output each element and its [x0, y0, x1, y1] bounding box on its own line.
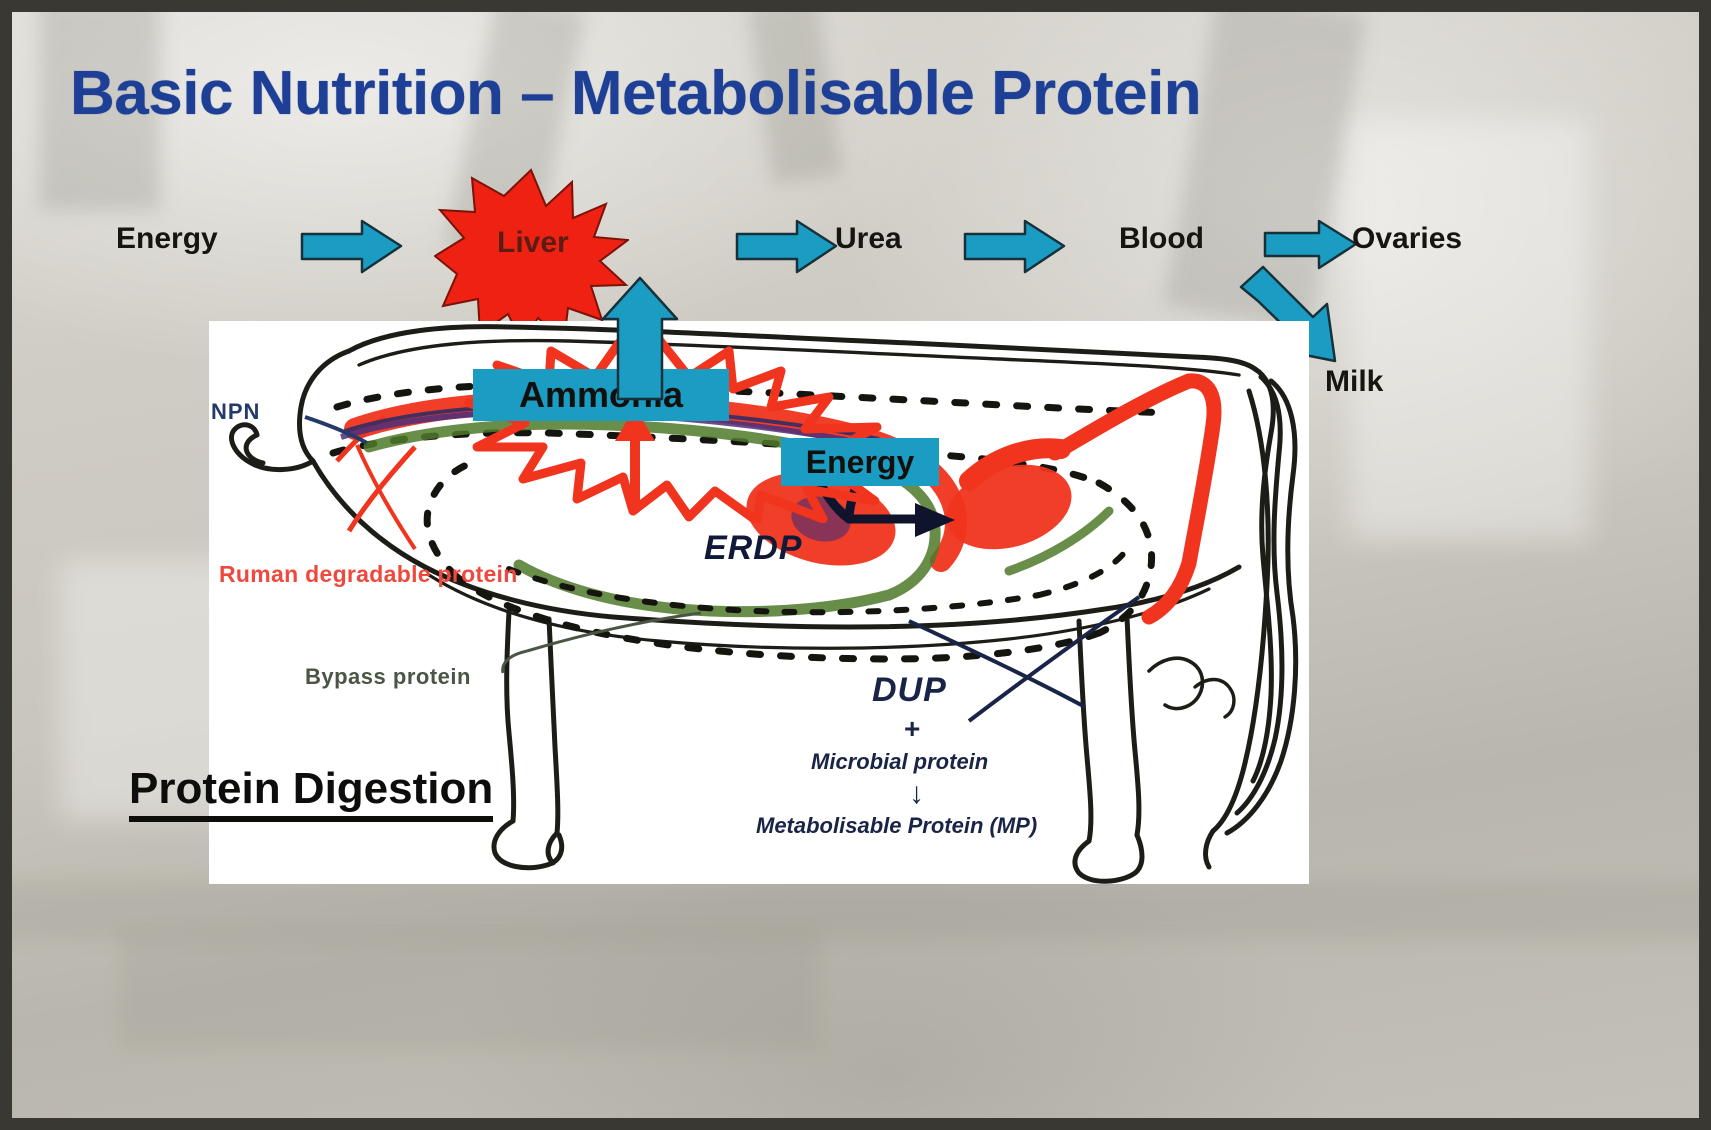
arrow-blood-to-ovaries — [1263, 218, 1359, 272]
label-dup: DUP — [872, 671, 947, 710]
down-arrow-icon: ↓ — [909, 779, 924, 809]
label-npn: NPN — [211, 399, 260, 425]
arrow-energy-to-liver — [300, 218, 404, 276]
scan-edge-bottom — [0, 1118, 1711, 1130]
slide-title: Basic Nutrition – Metabolisable Protein — [70, 58, 1650, 129]
arrow-liver-to-urea — [735, 218, 839, 276]
panel-title-protein-digestion: Protein Digestion — [129, 764, 493, 822]
label-bypass-protein: Bypass protein — [305, 664, 471, 690]
flow-node-milk: Milk — [1325, 365, 1383, 399]
background-texture — [0, 880, 1711, 940]
background-texture — [1350, 120, 1590, 540]
arrow-urea-to-blood — [963, 218, 1067, 276]
label-plus: + — [904, 713, 920, 745]
scan-edge-right — [1699, 0, 1711, 1130]
cow-diagram-panel: Ammonia Energy NPN Ruman degradable prot… — [209, 321, 1309, 884]
scan-edge-left — [0, 0, 12, 1130]
label-microbial-protein: Microbial protein — [811, 749, 988, 775]
slide-canvas: Basic Nutrition – Metabolisable Protein … — [0, 0, 1711, 1130]
energy-rumen-box: Energy — [781, 438, 939, 486]
energy-rumen-label: Energy — [806, 444, 914, 481]
flow-node-urea: Urea — [835, 222, 902, 256]
flow-node-blood: Blood — [1119, 222, 1204, 256]
flow-node-ovaries: Ovaries — [1352, 222, 1462, 256]
flow-node-liver: Liver — [497, 226, 569, 260]
label-ruman-degradable-protein: Ruman degradable protein — [219, 561, 518, 588]
flow-node-energy: Energy — [116, 222, 218, 256]
scan-edge-top — [0, 0, 1711, 12]
background-texture — [120, 930, 820, 1050]
label-metabolisable-protein: Metabolisable Protein (MP) — [756, 813, 1037, 839]
arrow-ammonia-to-liver — [600, 275, 680, 403]
label-erdp: ERDP — [704, 529, 802, 568]
